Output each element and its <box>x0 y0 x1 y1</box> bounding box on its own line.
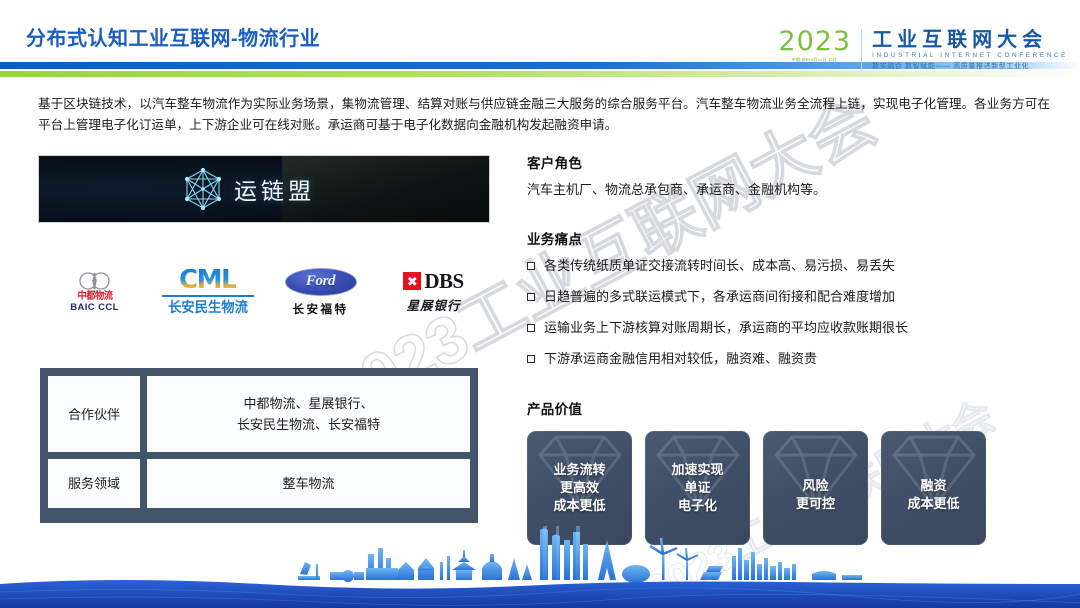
table-row-value: 整车物流 <box>147 459 470 508</box>
dbs-cross-icon: ✖ <box>403 272 421 290</box>
value-card: 加速实现 单证 电子化 <box>645 431 750 545</box>
partner-logo-label-en: BAIC CCL <box>70 303 119 313</box>
list-item: 日趋普遍的多式联运模式下，各承运商间衔接和配合难度增加 <box>527 287 1072 318</box>
partner-logo-cml: CML 长安民生物流 <box>151 258 264 326</box>
square-bullet-icon <box>527 355 535 363</box>
table-row-value: 中都物流、星展银行、 长安民生物流、长安福特 <box>147 376 470 452</box>
list-item: 运输业务上下游核算对账周期长，承运商的平均应收款账期很长 <box>527 318 1072 349</box>
value-card: 业务流转 更高效 成本更低 <box>527 431 632 545</box>
square-bullet-icon <box>527 324 535 332</box>
intro-paragraph: 基于区块链技术，以汽车整车物流作为实际业务场景，集物流管理、结算对账与供应链金融… <box>38 94 1050 136</box>
value-card-label: 加速实现 单证 电子化 <box>671 461 723 515</box>
logo-slogan: 数实融合 数智赋能—— 高质量推进新型工业化 <box>872 61 1068 71</box>
partner-logo-label-cn: 长安民生物流 <box>168 300 248 315</box>
roles-text: 汽车主机厂、物流总承包商、承运商、金融机构等。 <box>527 180 1067 199</box>
logo-year-subtitle: 中国·苏州 5月11日-13日 <box>780 57 849 63</box>
logo-year-block: 2023 中国·苏州 5月11日-13日 <box>778 28 851 63</box>
list-item-label: 下游承运商金融信用相对较低，融资难、融资贵 <box>544 349 817 369</box>
cml-wordmark: CML <box>179 269 236 292</box>
brand-name: 运链盟 <box>234 172 315 206</box>
partner-logo-row: 中都物流 BAIC CCL CML 长安民生物流 Ford 长安福特 ✖ DBS… <box>38 258 490 326</box>
value-card: 融资 成本更低 <box>881 431 986 545</box>
brand-banner: 运链盟 <box>38 155 490 223</box>
pain-point-list: 各类传统纸质单证交接流转时间长、成本高、易污损、易丢失 日趋普遍的多式联运模式下… <box>527 256 1072 380</box>
ford-oval-icon: Ford <box>285 268 357 296</box>
dbs-lockup: ✖ DBS <box>403 271 463 292</box>
list-item-label: 日趋普遍的多式联运模式下，各承运商间衔接和配合难度增加 <box>544 287 895 307</box>
table-row: 合作伙伴 中都物流、星展银行、 长安民生物流、长安福特 <box>48 376 470 452</box>
partner-logo-ford: Ford 长安福特 <box>264 258 377 326</box>
wave-mesh <box>0 588 1080 606</box>
ford-wordmark: Ford <box>306 273 335 290</box>
section-heading-roles: 客户角色 <box>527 152 582 172</box>
slide-canvas: 分布式认知工业互联网-物流行业 2023 中国·苏州 5月11日-13日 工业互… <box>0 0 1080 608</box>
logo-name-en: INDUSTRIAL INTERNET CONFERENCE <box>872 52 1068 59</box>
table-row-key: 服务领域 <box>48 459 140 508</box>
partner-logo-label-cn: 中都物流 <box>77 292 112 303</box>
list-item-label: 各类传统纸质单证交接流转时间长、成本高、易污损、易丢失 <box>544 256 895 276</box>
logo-divider <box>861 29 862 71</box>
logo-name-cn: 工业互联网大会 <box>872 30 1068 51</box>
partner-logo-label-cn: 长安福特 <box>293 301 349 317</box>
square-bullet-icon <box>527 262 535 270</box>
value-card-label: 风险 更可控 <box>796 477 835 513</box>
partner-info-table: 合作伙伴 中都物流、星展银行、 长安民生物流、长安福特 服务领域 整车物流 <box>40 368 478 523</box>
section-heading-pains: 业务痛点 <box>527 228 582 248</box>
list-item: 下游承运商金融信用相对较低，融资难、融资贵 <box>527 349 1072 380</box>
network-nodes-icon <box>183 167 223 211</box>
value-card: 风险 更可控 <box>763 431 868 545</box>
list-item-label: 运输业务上下游核算对账周期长，承运商的平均应收款账期很长 <box>544 318 908 338</box>
dbs-wordmark: DBS <box>424 271 463 292</box>
square-bullet-icon <box>527 293 535 301</box>
baic-emblem-icon <box>78 271 111 291</box>
cml-underline <box>162 295 254 298</box>
value-card-row: 业务流转 更高效 成本更低 加速实现 单证 电子化 风险 更可控 <box>527 431 1072 545</box>
value-card-label: 融资 成本更低 <box>907 477 959 513</box>
wave-band <box>0 580 1080 608</box>
page-title: 分布式认知工业互联网-物流行业 <box>26 22 320 51</box>
logo-text-block: 工业互联网大会 INDUSTRIAL INTERNET CONFERENCE 数… <box>872 28 1068 71</box>
partner-logo-label-cn: 星展银行 <box>406 295 460 314</box>
brand-banner-content: 运链盟 <box>39 156 489 222</box>
partner-logo-baic-ccl: 中都物流 BAIC CCL <box>38 258 151 326</box>
conference-logo: 2023 中国·苏州 5月11日-13日 工业互联网大会 INDUSTRIAL … <box>778 28 1068 72</box>
table-row-key: 合作伙伴 <box>48 376 140 452</box>
section-heading-value: 产品价值 <box>527 398 582 418</box>
logo-year: 2023 <box>778 29 851 55</box>
partner-logo-dbs: ✖ DBS 星展银行 <box>377 258 490 326</box>
table-row: 服务领域 整车物流 <box>48 459 470 508</box>
value-card-label: 业务流转 更高效 成本更低 <box>553 461 605 515</box>
list-item: 各类传统纸质单证交接流转时间长、成本高、易污损、易丢失 <box>527 256 1072 287</box>
